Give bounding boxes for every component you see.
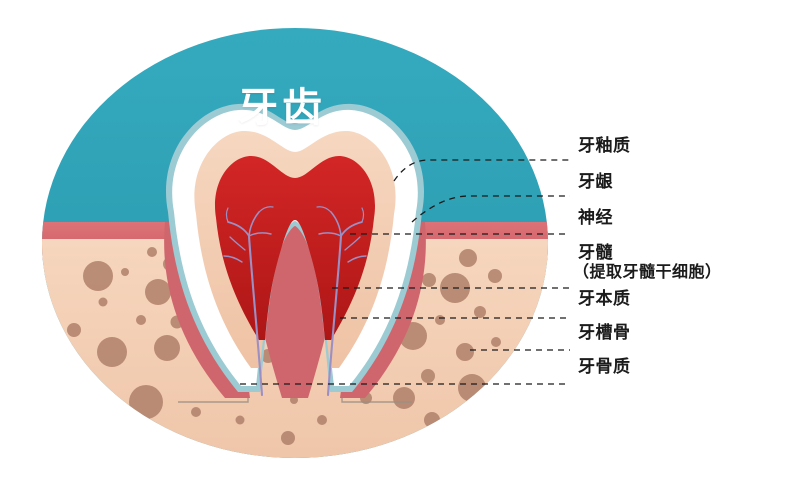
tooth-anatomy-diagram: 牙齿 牙釉质 牙龈 神经 牙髓 （提取牙髓干细胞） 牙本质 牙槽骨 牙骨质 [0,0,786,486]
label-dentin: 牙本质 [578,289,631,309]
label-enamel: 牙釉质 [578,136,631,156]
label-alveolar-bone: 牙槽骨 [578,323,631,343]
page-title: 牙齿 [238,86,326,130]
label-nerve: 神经 [578,208,613,228]
label-pulp-sub: （提取牙髓干细胞） [573,263,722,282]
label-gingiva: 牙龈 [578,172,613,192]
diagram-canvas [0,0,786,486]
label-cementum: 牙骨质 [578,357,631,377]
tooth-graphic [164,104,426,398]
label-pulp: 牙髓 [578,243,613,263]
